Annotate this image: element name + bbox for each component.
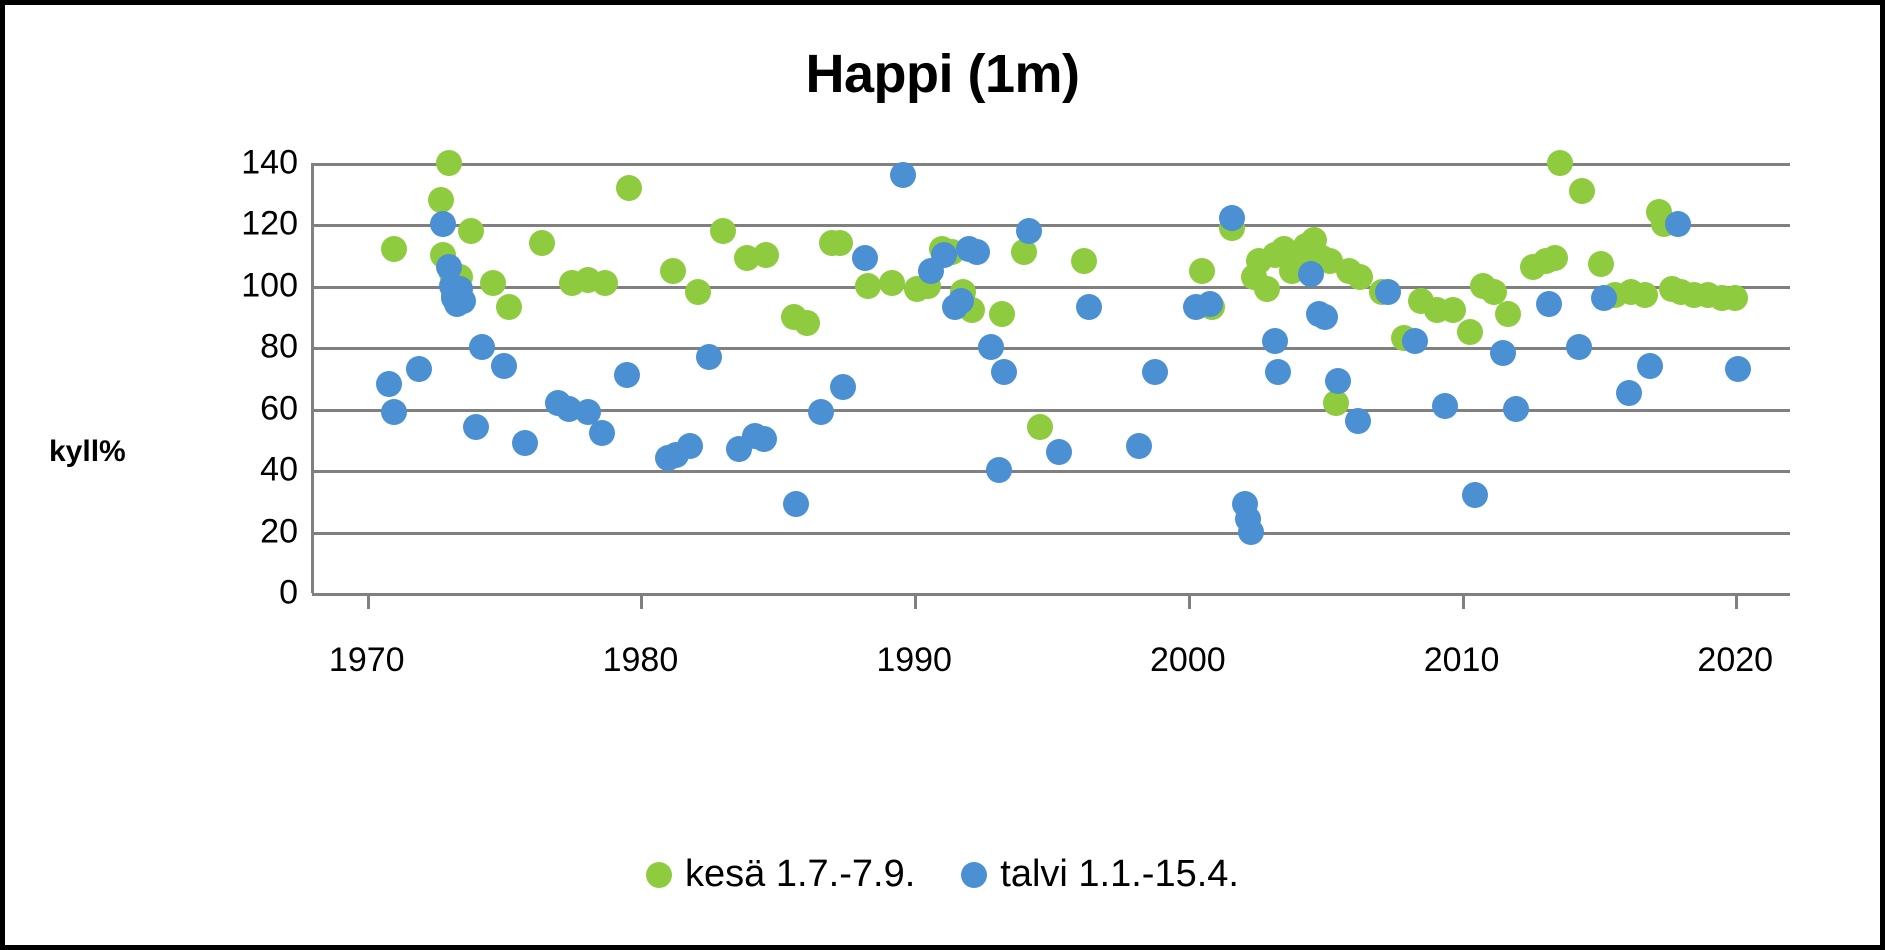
data-point-kesa (616, 175, 642, 201)
data-point-talvi (614, 362, 640, 388)
y-tick-label: 120 (241, 205, 298, 244)
data-point-talvi (991, 359, 1017, 385)
data-point-kesa (1542, 245, 1568, 271)
data-point-kesa (855, 273, 881, 299)
gridline (312, 224, 1790, 227)
data-point-talvi (1503, 396, 1529, 422)
x-tick-label: 1970 (329, 641, 405, 680)
data-point-talvi (751, 426, 777, 452)
data-point-talvi (964, 239, 990, 265)
chart-legend: kesä 1.7.-7.9.talvi 1.1.-15.4. (5, 853, 1880, 896)
data-point-talvi (1637, 353, 1663, 379)
data-point-talvi (1462, 482, 1488, 508)
legend-item[interactable]: kesä 1.7.-7.9. (646, 853, 915, 896)
data-point-talvi (1725, 356, 1751, 382)
x-tick-mark (1462, 593, 1465, 609)
data-point-kesa (827, 230, 853, 256)
data-point-talvi (1142, 359, 1168, 385)
data-point-talvi (1432, 393, 1458, 419)
data-point-kesa (1254, 276, 1280, 302)
data-point-talvi (1345, 408, 1371, 434)
x-tick-mark (367, 593, 370, 609)
data-point-talvi (1265, 359, 1291, 385)
data-point-talvi (1566, 334, 1592, 360)
chart-page: Happi (1m) kyll% 020406080100120140 1970… (0, 0, 1885, 950)
legend-label: talvi 1.1.-15.4. (1000, 853, 1239, 896)
x-tick-mark (1188, 593, 1191, 609)
data-point-talvi (491, 353, 517, 379)
data-point-talvi (808, 399, 834, 425)
data-point-talvi (450, 288, 476, 314)
data-point-talvi (406, 356, 432, 382)
y-tick-label: 80 (260, 328, 298, 367)
data-point-kesa (753, 242, 779, 268)
data-point-talvi (1076, 294, 1102, 320)
legend-item[interactable]: talvi 1.1.-15.4. (961, 853, 1239, 896)
y-tick-label: 100 (241, 266, 298, 305)
data-point-talvi (469, 334, 495, 360)
data-point-kesa (1071, 248, 1097, 274)
legend-label: kesä 1.7.-7.9. (685, 853, 915, 896)
data-point-talvi (1312, 304, 1338, 330)
data-point-kesa (1440, 297, 1466, 323)
data-point-kesa (685, 279, 711, 305)
data-point-talvi (677, 433, 703, 459)
gridline (312, 470, 1790, 473)
data-point-talvi (783, 491, 809, 517)
data-point-talvi (1325, 368, 1351, 394)
data-point-kesa (480, 270, 506, 296)
y-tick-label: 140 (241, 144, 298, 183)
legend-swatch-icon (646, 862, 672, 888)
data-point-kesa (1457, 319, 1483, 345)
y-axis-title: kyll% (49, 435, 126, 469)
data-point-talvi (1402, 328, 1428, 354)
data-point-talvi (890, 162, 916, 188)
data-point-talvi (1298, 261, 1324, 287)
data-point-kesa (1588, 251, 1614, 277)
x-tick-label: 1980 (603, 641, 679, 680)
data-point-talvi (1262, 328, 1288, 354)
data-point-talvi (1046, 439, 1072, 465)
data-point-talvi (948, 288, 974, 314)
x-tick-label: 2010 (1424, 641, 1500, 680)
x-tick-label: 2000 (1150, 641, 1226, 680)
data-point-kesa (1495, 301, 1521, 327)
data-point-talvi (1490, 340, 1516, 366)
x-tick-mark (640, 593, 643, 609)
data-point-talvi (1536, 291, 1562, 317)
gridline (312, 286, 1790, 289)
data-point-kesa (1722, 285, 1748, 311)
data-point-talvi (463, 414, 489, 440)
data-point-talvi (1238, 519, 1264, 545)
gridline (312, 532, 1790, 535)
page-title: Happi (1m) (5, 43, 1880, 105)
data-point-talvi (512, 430, 538, 456)
data-point-kesa (1547, 150, 1573, 176)
data-point-talvi (1375, 279, 1401, 305)
data-point-kesa (1569, 178, 1595, 204)
data-point-talvi (589, 420, 615, 446)
y-axis-line (311, 163, 314, 593)
data-point-kesa (1189, 258, 1215, 284)
data-point-talvi (381, 399, 407, 425)
data-point-kesa (660, 258, 686, 284)
data-point-kesa (1632, 282, 1658, 308)
data-point-talvi (852, 245, 878, 271)
data-point-talvi (696, 344, 722, 370)
data-point-talvi (978, 334, 1004, 360)
data-point-kesa (794, 310, 820, 336)
data-point-kesa (381, 236, 407, 262)
y-tick-label: 60 (260, 389, 298, 428)
data-point-kesa (592, 270, 618, 296)
data-point-kesa (989, 301, 1015, 327)
x-tick-mark (1735, 593, 1738, 609)
data-point-kesa (458, 218, 484, 244)
data-point-talvi (430, 211, 456, 237)
y-tick-label: 40 (260, 451, 298, 490)
legend-swatch-icon (961, 862, 987, 888)
data-point-talvi (1591, 285, 1617, 311)
data-point-kesa (710, 218, 736, 244)
gridline (312, 409, 1790, 412)
data-point-talvi (1016, 218, 1042, 244)
data-point-talvi (1665, 211, 1691, 237)
data-point-kesa (1027, 414, 1053, 440)
data-point-talvi (986, 457, 1012, 483)
x-tick-label: 1990 (876, 641, 952, 680)
gridline (312, 593, 1790, 596)
y-tick-label: 20 (260, 512, 298, 551)
data-point-talvi (1219, 205, 1245, 231)
data-point-talvi (1197, 291, 1223, 317)
data-point-kesa (436, 150, 462, 176)
y-tick-label: 0 (279, 574, 298, 613)
data-point-talvi (931, 242, 957, 268)
data-point-talvi (1616, 380, 1642, 406)
x-tick-mark (914, 593, 917, 609)
data-point-talvi (830, 374, 856, 400)
data-point-kesa (879, 270, 905, 296)
plot-area (312, 163, 1790, 593)
data-point-talvi (1126, 433, 1152, 459)
data-point-kesa (496, 294, 522, 320)
data-point-talvi (376, 371, 402, 397)
x-tick-label: 2020 (1697, 641, 1773, 680)
data-point-kesa (428, 187, 454, 213)
data-point-kesa (529, 230, 555, 256)
